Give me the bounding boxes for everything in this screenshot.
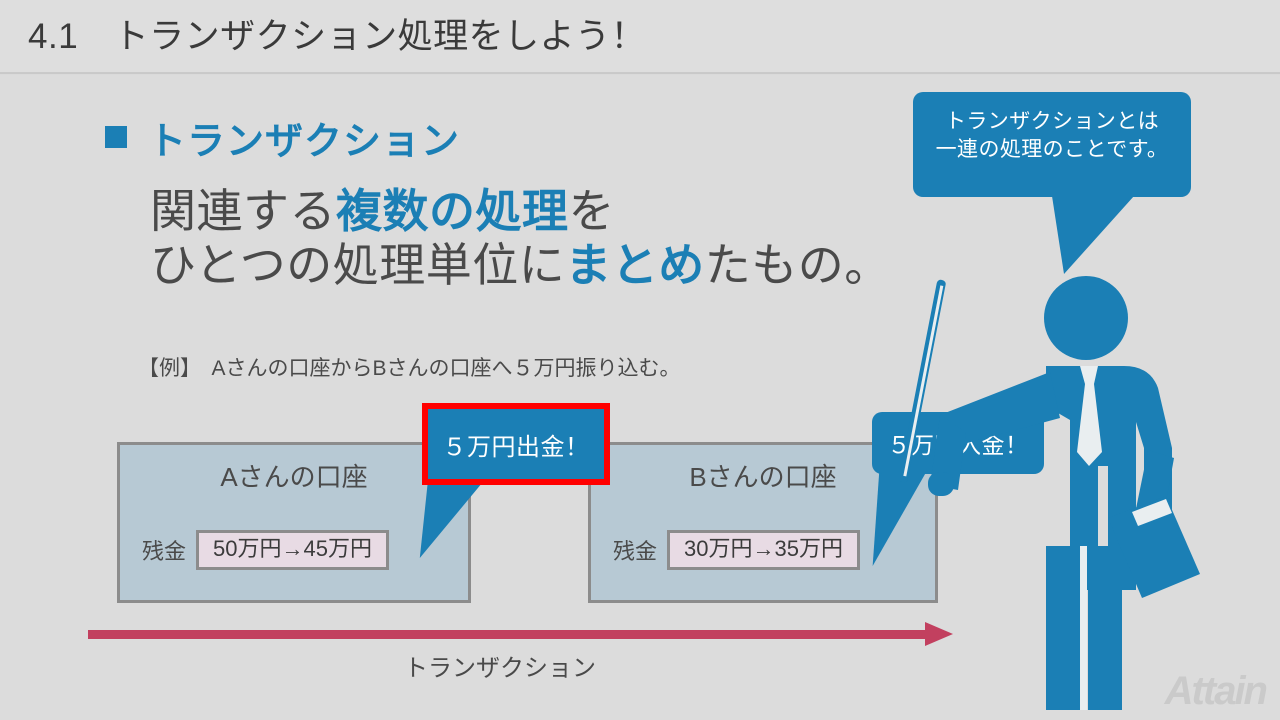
transaction-arrow-line (88, 630, 933, 639)
figure-right-leg (1088, 546, 1122, 710)
slide-canvas: 4.1 トランザクション処理をしよう！ トランザクション 関連する複数の処理を … (0, 0, 1280, 720)
page-title: 4.1 トランザクション処理をしよう！ (28, 8, 646, 59)
body-line-2-plain-b: たもの。 (705, 239, 891, 291)
account-a-balance-row: 残金 50万円→45万円 (142, 530, 389, 570)
account-a-balance-value: 50万円→45万円 (196, 530, 389, 570)
intro-callout-line-2: 一連の処理のことです。 (913, 136, 1191, 164)
account-a-title: Aさんの口座 (120, 457, 468, 494)
square-bullet-icon (105, 126, 127, 148)
withdraw-bubble-tail (420, 478, 486, 558)
intro-callout-line-1: トランザクションとは (913, 108, 1191, 136)
businessman-illustration (900, 250, 1200, 710)
body-line-2-plain-a: ひとつの処理単位に (150, 239, 565, 291)
slide-header: 4.1 トランザクション処理をしよう！ (0, 0, 1280, 73)
account-a-balance-label: 残金 (142, 534, 186, 566)
account-b-balance-label: 残金 (613, 534, 657, 566)
header-divider (0, 72, 1280, 75)
account-b-balance-value: 30万円→35万円 (667, 530, 860, 570)
figure-leg-gap (1080, 546, 1087, 710)
intro-callout: トランザクションとは 一連の処理のことです。 (913, 92, 1191, 197)
transaction-arrow-label: トランザクション (0, 648, 1000, 683)
body-line-2: ひとつの処理単位にまとめたもの。 (150, 229, 891, 295)
figure-left-leg (1046, 546, 1080, 710)
figure-fist (928, 472, 954, 496)
attain-logo-watermark: Attain (1165, 669, 1266, 714)
figure-head (1044, 276, 1128, 360)
example-text: 【例】 Aさんの口座からBさんの口座へ５万円振り込む。 (138, 352, 681, 382)
account-b-balance-row: 残金 30万円→35万円 (613, 530, 860, 570)
account-box-a: Aさんの口座 残金 50万円→45万円 (117, 442, 471, 603)
withdraw-callout-highlight-frame (422, 403, 610, 485)
section-heading: トランザクション (148, 110, 460, 165)
body-line-2-highlight: まとめ (565, 239, 705, 291)
